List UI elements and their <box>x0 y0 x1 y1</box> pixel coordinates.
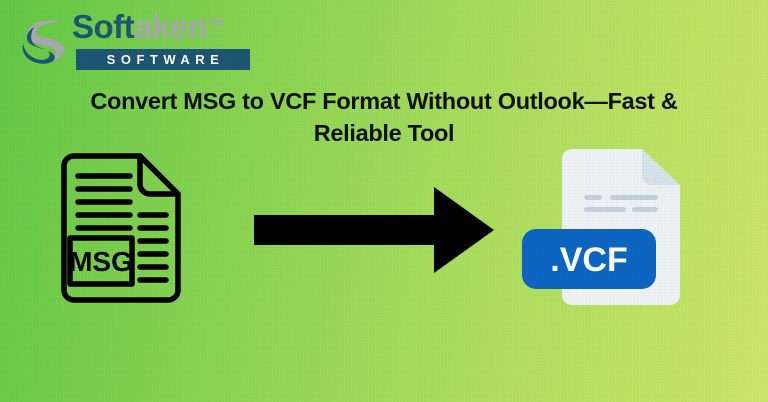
logo-wordmark: SoftakenTM <box>72 10 223 43</box>
vcf-document-icon: .VCF <box>520 145 700 310</box>
msg-label: MSG <box>69 246 133 277</box>
logo-word-gray: aken <box>134 8 207 45</box>
promo-banner: SoftakenTM SOFTWARE Convert MSG to VCF F… <box>0 0 768 402</box>
right-arrow-icon <box>252 185 496 275</box>
msg-document-icon: MSG <box>52 152 190 304</box>
vcf-label: .VCF <box>550 241 627 279</box>
logo-tagline: SOFTWARE <box>76 49 250 70</box>
trademark-symbol: TM <box>207 17 223 29</box>
logo-word-dark: Soft <box>72 8 134 45</box>
softaken-logo[interactable]: SoftakenTM SOFTWARE <box>14 8 254 70</box>
softaken-s-swoosh-icon <box>14 12 70 68</box>
page-title: Convert MSG to VCF Format Without Outloo… <box>64 85 704 149</box>
